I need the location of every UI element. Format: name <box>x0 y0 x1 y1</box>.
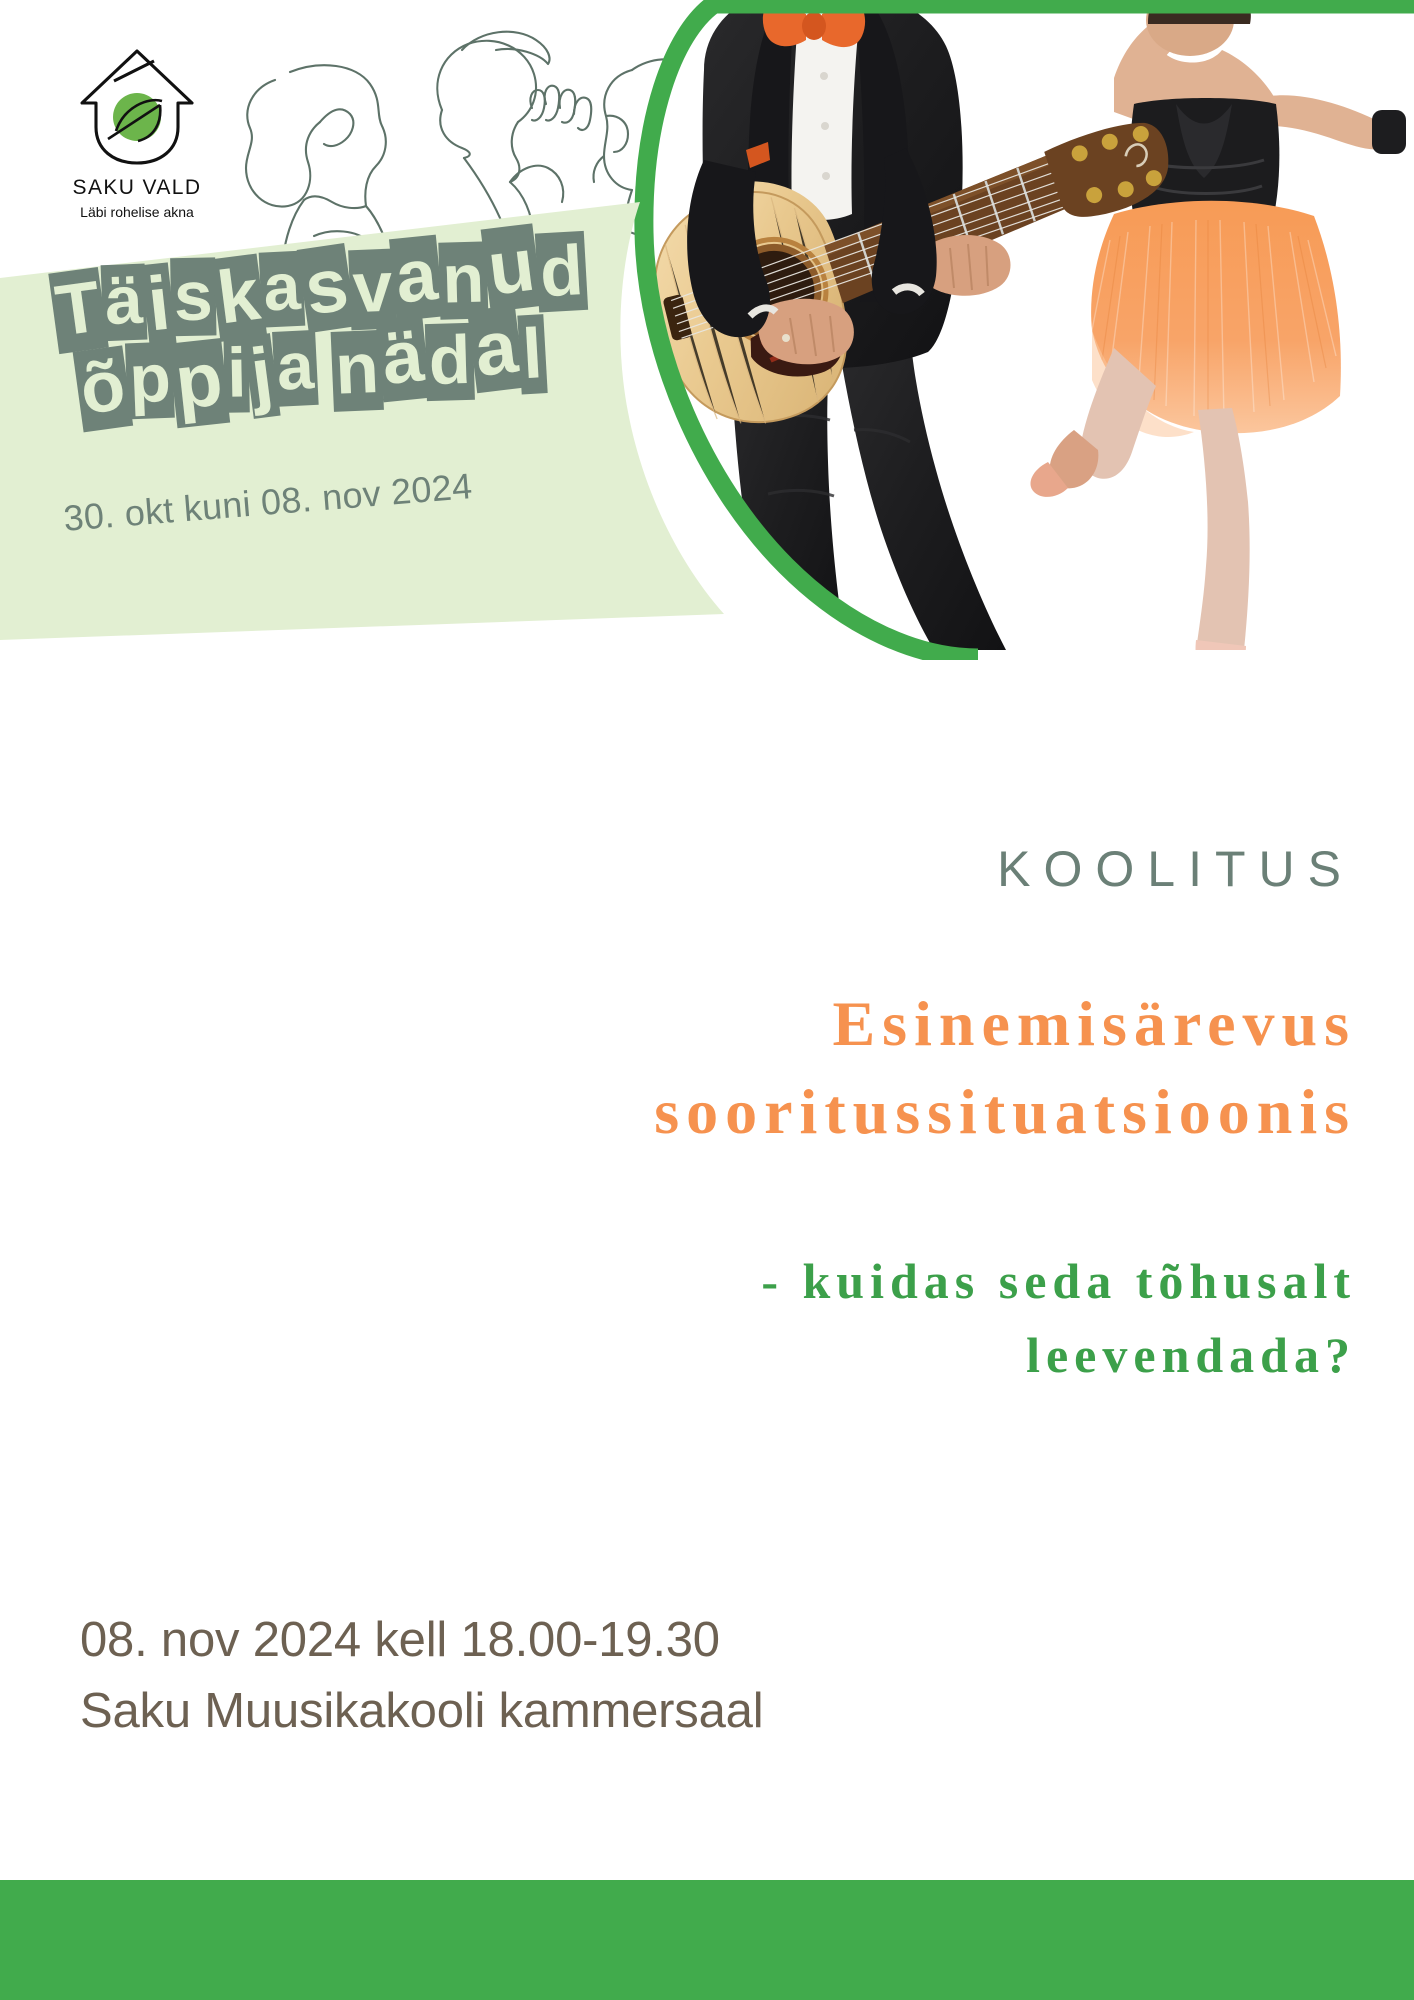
event-title-line2: sooritussituatsioonis <box>60 1068 1356 1156</box>
ransom-space <box>318 391 334 392</box>
footer-bar <box>0 1880 1414 2000</box>
ransom-letter: l <box>517 314 547 394</box>
poster: SAKU VALD Läbi rohelise akna Täiskasvanu… <box>0 0 1414 2000</box>
ransom-letter: p <box>169 338 230 428</box>
ransom-letter: u <box>481 223 543 312</box>
ransom-letter: s <box>170 257 216 336</box>
saku-vald-logo: SAKU VALD Läbi rohelise akna <box>52 45 222 220</box>
ransom-letter: ä <box>376 316 431 402</box>
event-title-line1: Esinemisärevus <box>60 980 1356 1068</box>
ransom-letter: n <box>330 330 383 412</box>
ransom-letter: T <box>48 267 108 354</box>
ransom-letter: d <box>425 323 475 401</box>
event-venue: Saku Muusikakooli kammersaal <box>80 1676 763 1747</box>
event-details: 08. nov 2024 kell 18.00-19.30 Saku Muusi… <box>80 1605 763 1747</box>
ransom-letter: d <box>535 231 588 313</box>
event-kind-label: KOOLITUS <box>0 840 1354 898</box>
banner-title: Täiskasvanud õppijanädal <box>40 223 617 497</box>
logo-name: SAKU VALD <box>52 176 222 200</box>
ransom-letter: õ <box>73 345 133 432</box>
ransom-letter: ä <box>101 264 148 342</box>
house-with-leaf-icon <box>52 45 222 165</box>
event-subtitle-line2: leevendada? <box>60 1319 1356 1393</box>
ransom-letter: a <box>467 305 524 394</box>
event-datetime: 08. nov 2024 kell 18.00-19.30 <box>80 1605 763 1676</box>
ransom-letter: a <box>272 330 318 407</box>
ransom-letter: p <box>125 342 175 420</box>
event-subtitle: - kuidas seda tõhusalt leevendada? <box>60 1245 1356 1392</box>
ransom-letter: a <box>389 235 444 321</box>
ransom-letter: s <box>296 243 356 333</box>
event-title: Esinemisärevus sooritussituatsioonis <box>60 980 1356 1157</box>
logo-tagline: Läbi rohelise akna <box>52 204 222 220</box>
event-subtitle-line1: - kuidas seda tõhusalt <box>60 1245 1356 1319</box>
